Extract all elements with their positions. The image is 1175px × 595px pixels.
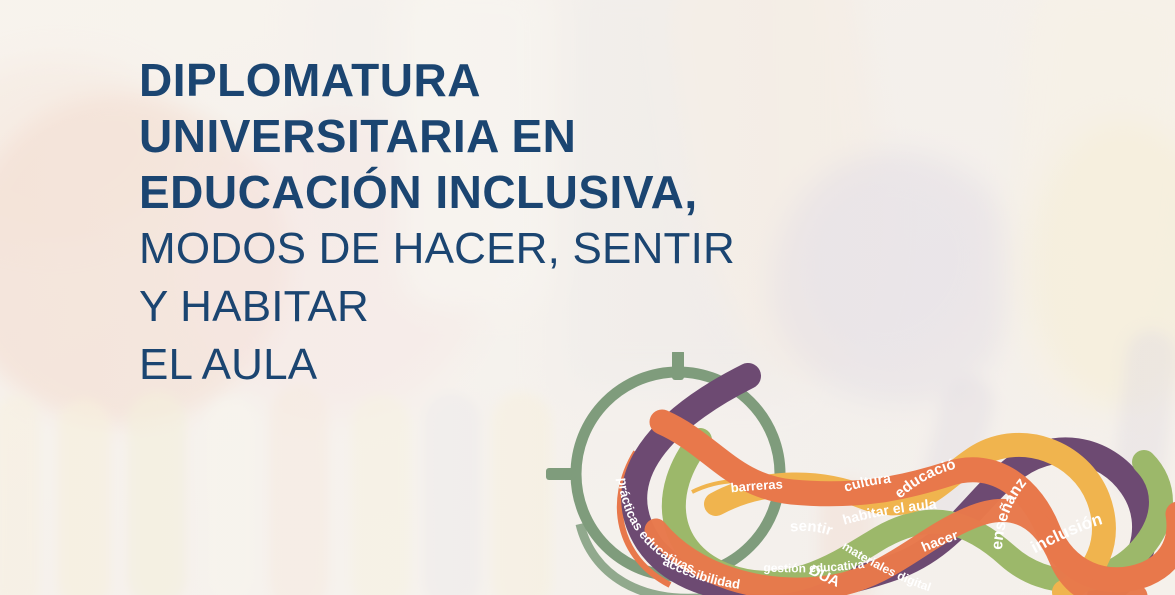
title-line-6: EL AULA <box>139 336 899 394</box>
title-line-5: Y HABITAR <box>139 278 899 336</box>
banner: DIPLOMATURA UNIVERSITARIA EN EDUCACIÓN I… <box>0 0 1175 595</box>
title-line-2: UNIVERSITARIA EN <box>139 108 899 164</box>
title-line-3: EDUCACIÓN INCLUSIVA, <box>139 164 899 220</box>
title-line-4: MODOS DE HACER, SENTIR <box>139 220 899 278</box>
ribbon-label-sentir: sentir <box>789 518 835 539</box>
page-title: DIPLOMATURA UNIVERSITARIA EN EDUCACIÓN I… <box>139 52 899 394</box>
title-line-1: DIPLOMATURA <box>139 52 899 108</box>
